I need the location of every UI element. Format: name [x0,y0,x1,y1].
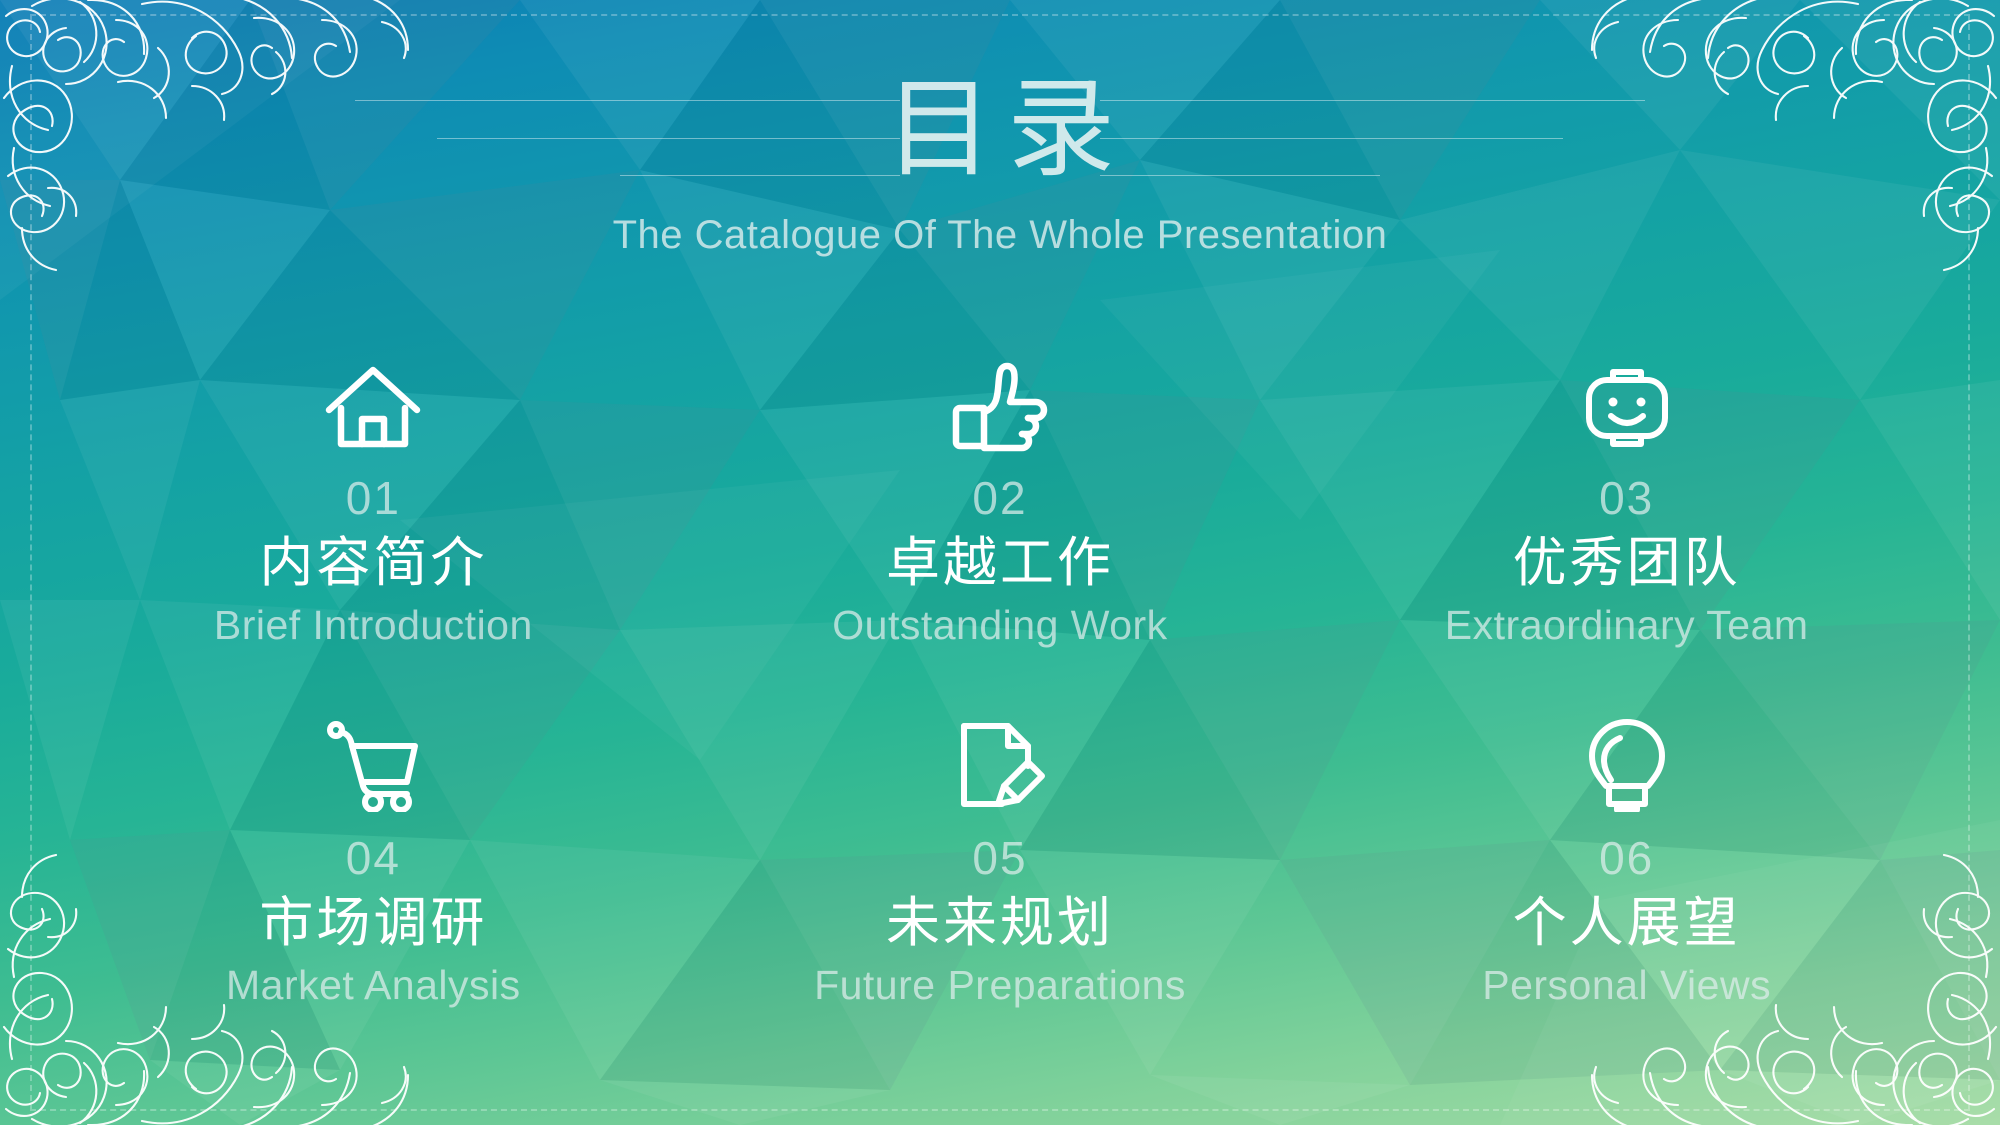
item-title-cn: 卓越工作 [687,532,1314,594]
item-number: 01 [60,474,687,522]
page-subtitle: The Catalogue Of The Whole Presentation [0,213,2000,258]
item-number: 06 [1313,834,1940,882]
item-title-cn: 内容简介 [60,532,687,594]
item-title-cn: 个人展望 [1313,892,1940,954]
catalogue-item-06[interactable]: 06 个人展望 Personal Views [1313,700,1940,1060]
catalogue-item-01[interactable]: 01 内容简介 Brief Introduction [60,340,687,700]
item-title-cn: 优秀团队 [1313,532,1940,594]
title-row: 目录 [0,70,2000,195]
title-decor-line-left-2 [437,138,900,139]
item-title-cn: 市场调研 [60,892,687,954]
item-title-en: Outstanding Work [687,600,1314,650]
page-title: 目录 [871,70,1129,188]
catalogue-item-04[interactable]: 04 市场调研 Market Analysis [60,700,687,1060]
title-decor-line-right-1 [1100,100,1645,101]
item-title-en: Market Analysis [60,960,687,1010]
item-number: 05 [687,834,1314,882]
catalogue-item-03[interactable]: 03 优秀团队 Extraordinary Team [1313,340,1940,700]
catalogue-slide: 目录 The Catalogue Of The Whole Presentati… [0,0,2000,1125]
item-title-en: Future Preparations [687,960,1314,1010]
shopping-cart-icon [60,708,687,812]
catalogue-item-05[interactable]: 05 未来规划 Future Preparations [687,700,1314,1060]
lightbulb-icon [1313,708,1940,812]
robot-head-icon [1313,348,1940,452]
catalogue-grid: 01 内容简介 Brief Introduction 02 卓越工作 Outst… [60,340,1940,1060]
catalogue-item-02[interactable]: 02 卓越工作 Outstanding Work [687,340,1314,700]
item-title-en: Brief Introduction [60,600,687,650]
item-title-en: Personal Views [1313,960,1940,1010]
item-title-en: Extraordinary Team [1313,600,1940,650]
document-pencil-icon [687,708,1314,812]
item-number: 03 [1313,474,1940,522]
item-number: 04 [60,834,687,882]
title-decor-line-right-3 [1100,175,1380,176]
title-decor-line-left-1 [355,100,900,101]
title-decor-line-right-2 [1100,138,1563,139]
item-title-cn: 未来规划 [687,892,1314,954]
slide-header: 目录 The Catalogue Of The Whole Presentati… [0,70,2000,258]
title-decor-line-left-3 [620,175,900,176]
item-number: 02 [687,474,1314,522]
home-icon [60,348,687,452]
thumbs-up-icon [687,348,1314,452]
